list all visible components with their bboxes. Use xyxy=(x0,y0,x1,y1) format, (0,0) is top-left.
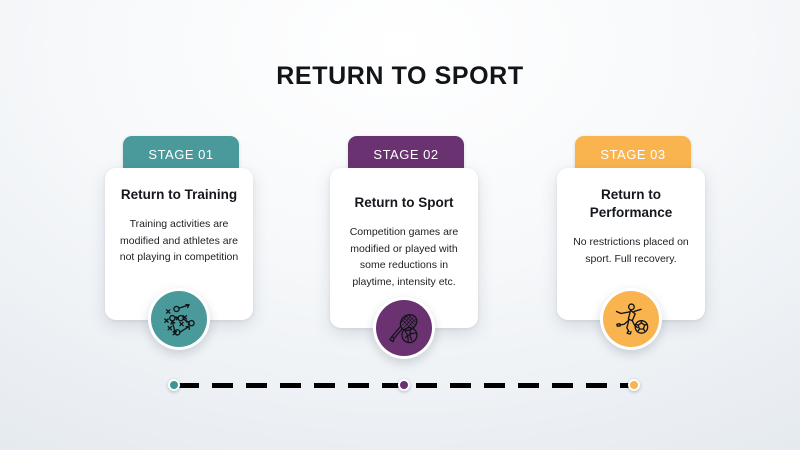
racket-and-ball-icon xyxy=(376,300,432,356)
stage-01-description: Training activities are modified and ath… xyxy=(117,216,241,266)
stage-02-description: Competition games are modified or played… xyxy=(342,224,466,290)
stage-03-title: Return to Performance xyxy=(569,186,693,222)
timeline xyxy=(168,379,640,391)
timeline-marker-stage-01[interactable] xyxy=(168,379,180,391)
stage-01-icon-badge[interactable] xyxy=(148,288,210,350)
stage-02-icon-badge[interactable] xyxy=(373,297,435,359)
stage-03-description: No restrictions placed on sport. Full re… xyxy=(569,234,693,267)
tactics-board-icon xyxy=(151,291,207,347)
timeline-marker-stage-02[interactable] xyxy=(398,379,410,391)
stage-02-title: Return to Sport xyxy=(342,194,466,212)
stage-03-icon-badge[interactable] xyxy=(600,288,662,350)
stage-02-tab-label: STAGE 02 xyxy=(373,147,438,162)
soccer-player-icon xyxy=(603,291,659,347)
stage-01-tab-label: STAGE 01 xyxy=(148,147,213,162)
stage-01-title: Return to Training xyxy=(117,186,241,204)
slide-canvas: RETURN TO SPORT STAGE 01 Return to Train… xyxy=(0,0,800,450)
page-title: RETURN TO SPORT xyxy=(0,62,800,91)
stage-03-tab-label: STAGE 03 xyxy=(600,147,665,162)
timeline-marker-stage-03[interactable] xyxy=(628,379,640,391)
